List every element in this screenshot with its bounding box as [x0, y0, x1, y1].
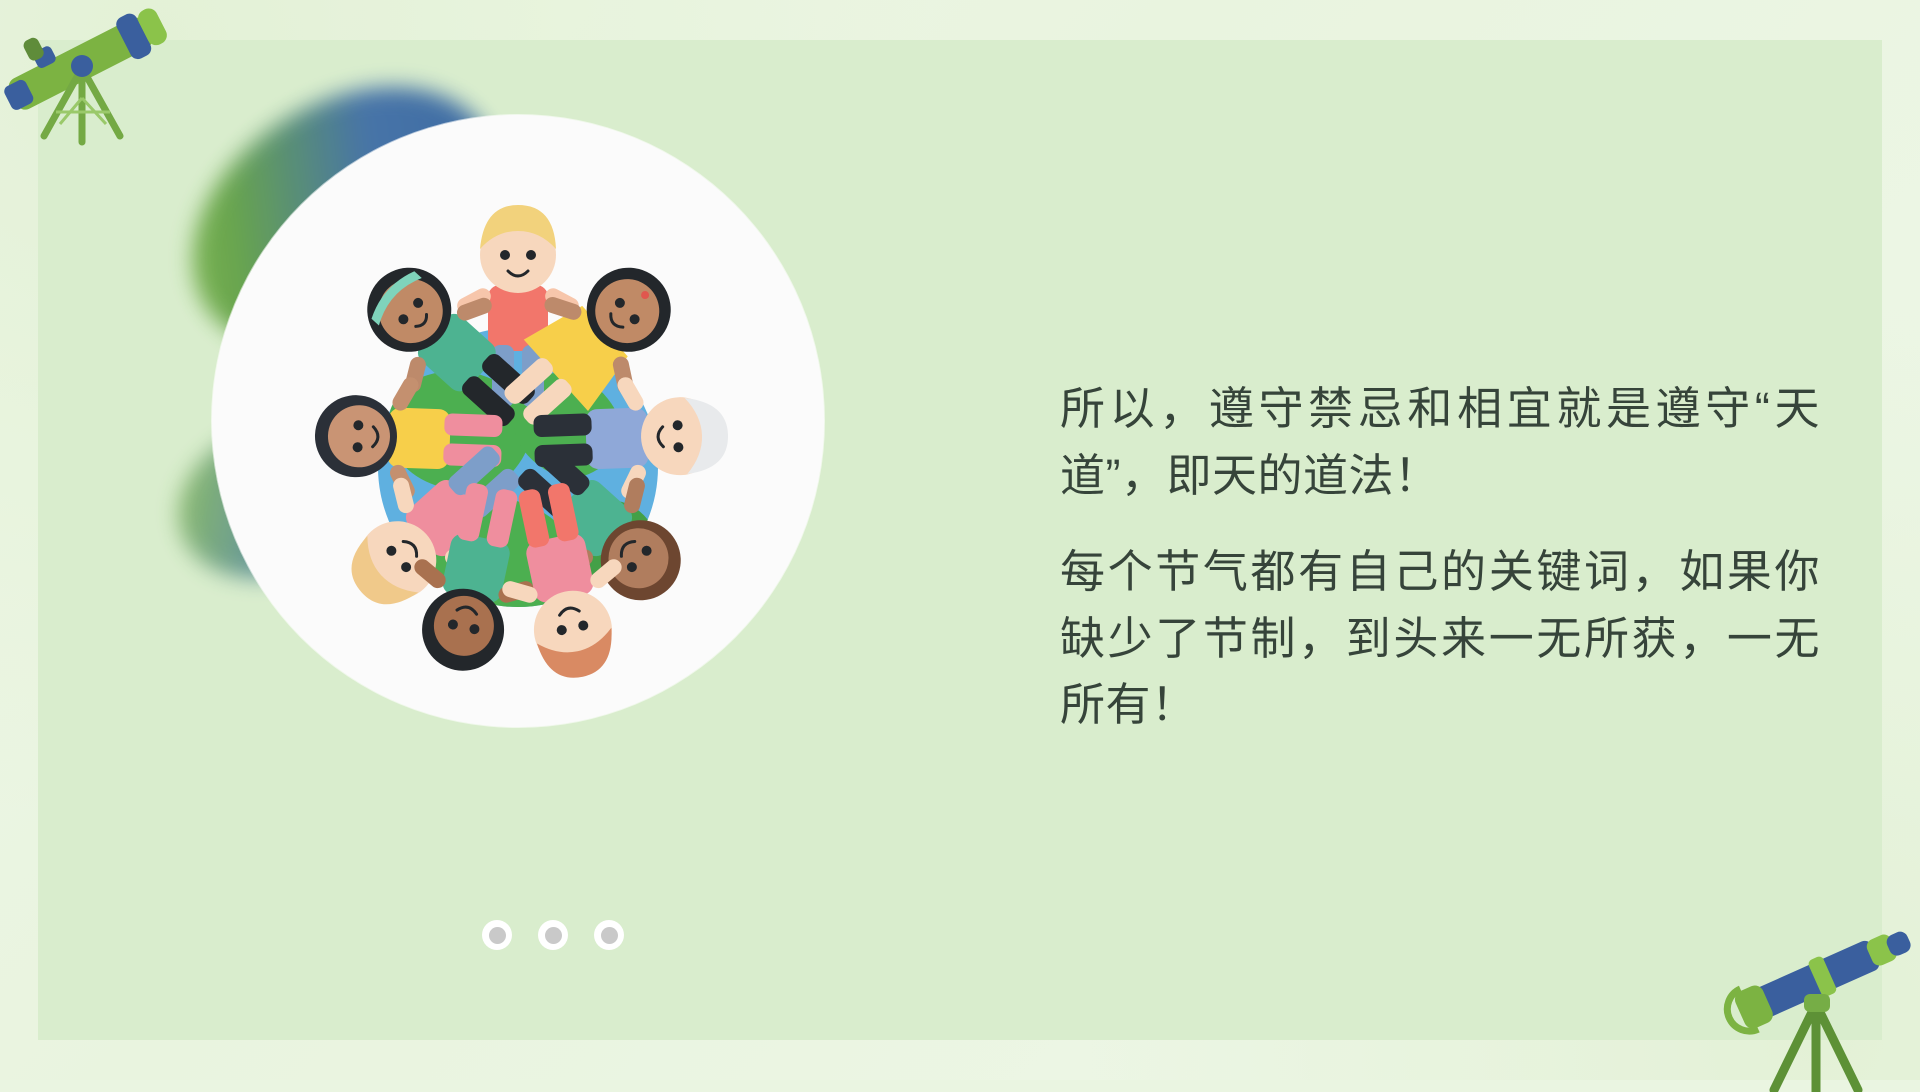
- dot-inner: [601, 927, 618, 944]
- paragraph-1: 所以，遵守禁忌和相宜就是遵守“天道”，即天的道法！: [1060, 376, 1820, 509]
- body-text-block: 所以，遵守禁忌和相宜就是遵守“天道”，即天的道法！ 每个节气都有自己的关键词，如…: [1060, 376, 1820, 739]
- carousel-dots[interactable]: [482, 920, 624, 950]
- slide-root: 所以，遵守禁忌和相宜就是遵守“天道”，即天的道法！ 每个节气都有自己的关键词，如…: [0, 0, 1920, 1080]
- telescope-icon: [0, 0, 192, 151]
- carousel-dot[interactable]: [482, 920, 512, 950]
- carousel-dot[interactable]: [594, 920, 624, 950]
- paragraph-2: 每个节气都有自己的关键词，如果你缺少了节制，到头来一无所获，一无所有！: [1060, 539, 1820, 739]
- telescope-icon: [1700, 912, 1920, 1092]
- dot-inner: [545, 927, 562, 944]
- slide-image-area: [170, 95, 830, 735]
- carousel-dot[interactable]: [538, 920, 568, 950]
- dot-inner: [489, 927, 506, 944]
- children-earth-illustration: [212, 115, 824, 727]
